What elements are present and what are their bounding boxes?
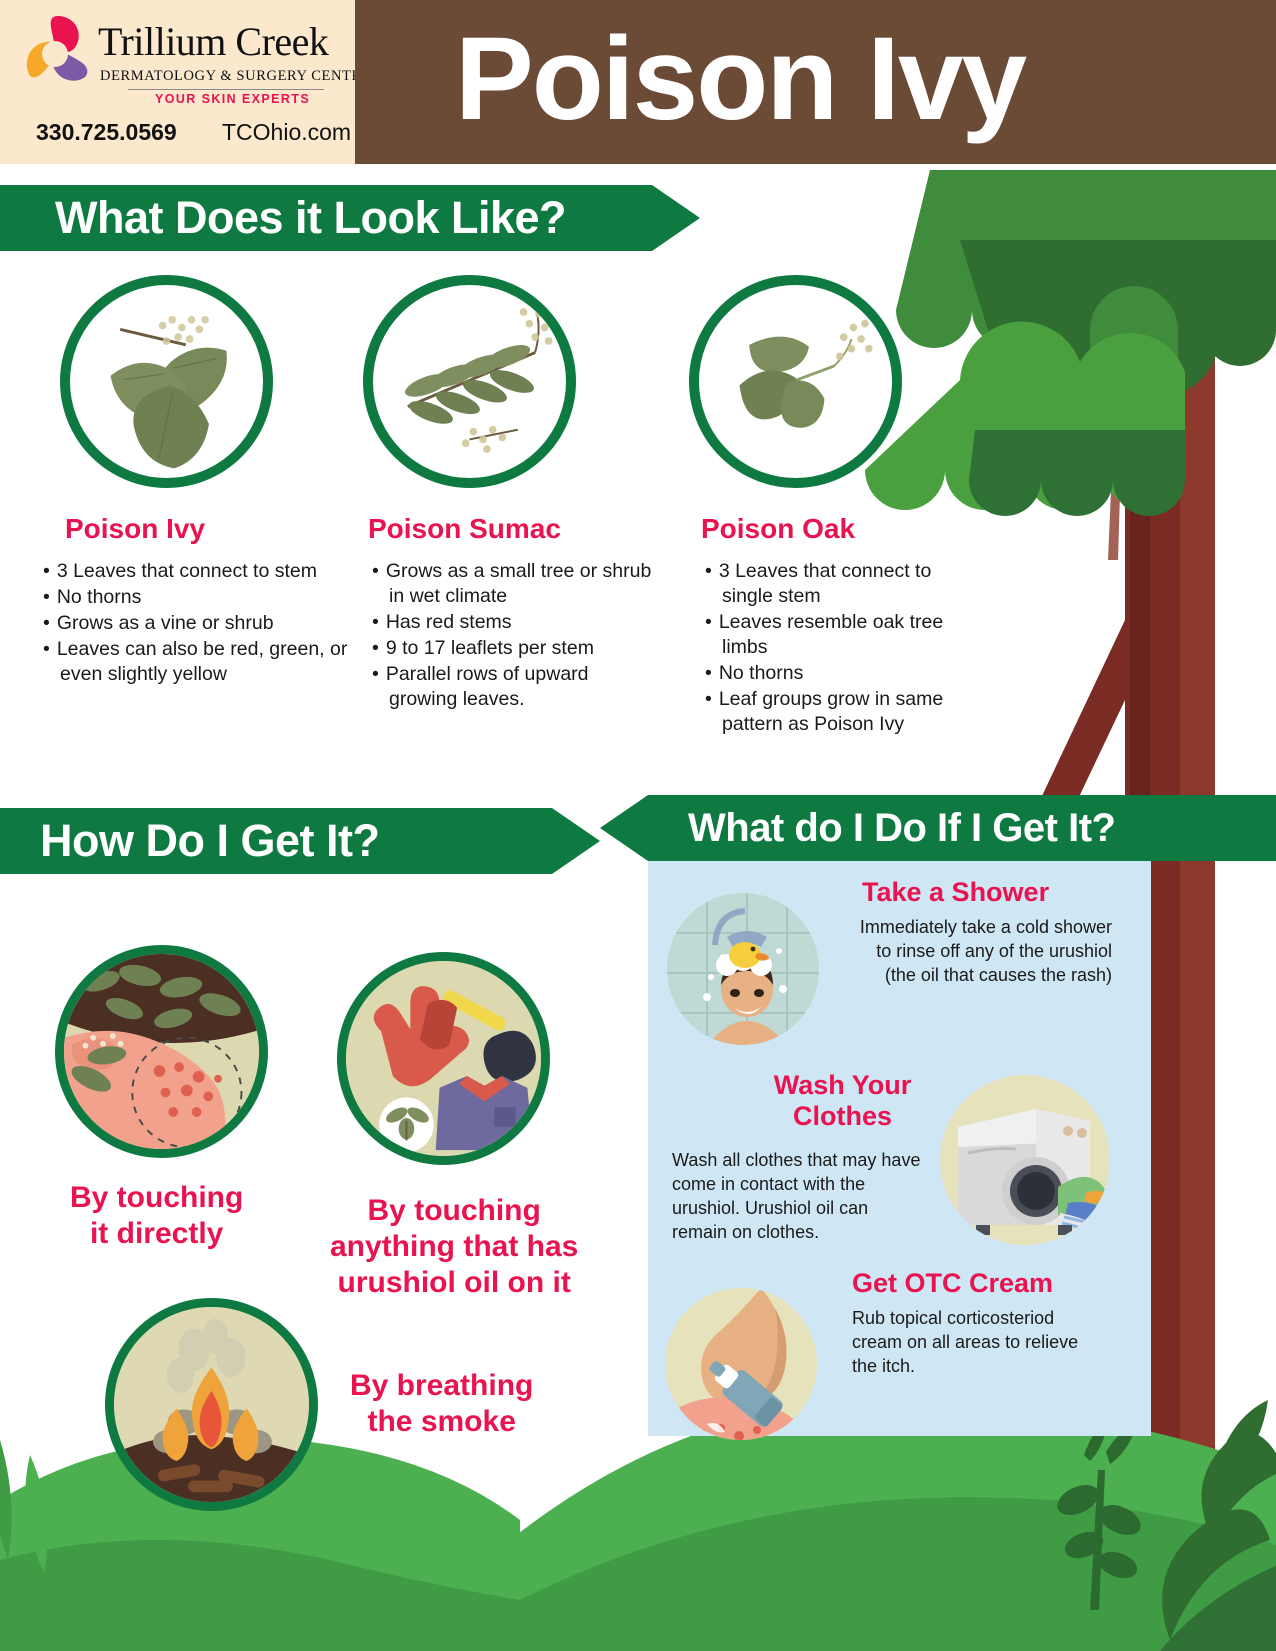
poison-ivy-leaf-icon (60, 275, 273, 488)
banner-label: What Does it Look Like? (55, 192, 566, 244)
list-item: No thorns (705, 661, 975, 686)
get-way-caption: By touchingit directly (70, 1180, 243, 1252)
campfire-smoke-icon (105, 1298, 318, 1511)
page-header: Trillium Creek DERMATOLOGY & SURGERY CEN… (0, 0, 1276, 164)
banner-label: How Do I Get It? (40, 815, 379, 867)
list-item: 9 to 17 leaflets per stem (372, 636, 660, 661)
title-panel: Poison Ivy (355, 0, 1276, 164)
leaf-stem-icon (1053, 1421, 1146, 1610)
do-step-title: Take a Shower (862, 877, 1049, 908)
get-way-caption: By breathingthe smoke (350, 1368, 533, 1440)
banner-what-does-it-look-like: What Does it Look Like? (0, 185, 700, 251)
infographic-page: Trillium Creek DERMATOLOGY & SURGERY CEN… (0, 0, 1276, 1651)
list-item: Leaf groups grow in same pattern as Pois… (705, 687, 975, 737)
bush-icon (1162, 1400, 1276, 1640)
brand-subtitle: DERMATOLOGY & SURGERY CENTER (100, 68, 371, 85)
list-item: Parallel rows of upward growing leaves. (372, 662, 660, 712)
plant-name: Poison Ivy (65, 513, 355, 545)
glove-shovel-shirt-icon (337, 952, 550, 1165)
plant-name: Poison Oak (701, 513, 975, 545)
list-item: Grows as a vine or shrub (43, 611, 355, 636)
plant-cards: Poison Ivy 3 Leaves that connect to stem… (0, 275, 1010, 745)
do-step-title: Wash YourClothes (760, 1070, 925, 1132)
page-title: Poison Ivy (455, 4, 1025, 154)
do-step-body: Wash all clothes that may have come in c… (672, 1148, 924, 1244)
washing-machine-laundry-icon (940, 1075, 1110, 1245)
phone-number[interactable]: 330.725.0569 (36, 119, 177, 146)
plant-bullet-list: Grows as a small tree or shrub in wet cl… (372, 559, 660, 712)
how-do-i-get-it-content: By touchingit directly By touc (0, 900, 640, 1500)
do-step-title: Get OTC Cream (852, 1268, 1053, 1299)
poison-sumac-leaf-icon (363, 275, 576, 488)
brand-divider (128, 89, 324, 90)
plant-card: Poison Sumac Grows as a small tree or sh… (340, 275, 660, 713)
plant-bullet-list: 3 Leaves that connect to single stem Lea… (705, 559, 975, 737)
list-item: Grows as a small tree or shrub in wet cl… (372, 559, 660, 609)
banner-what-do-i-do: What do I Do If I Get It? (600, 795, 1276, 861)
list-item: 3 Leaves that connect to stem (43, 559, 355, 584)
banner-label: What do I Do If I Get It? (688, 806, 1115, 851)
trillium-triangle-logo-icon (22, 14, 94, 88)
brand-name: Trillium Creek (98, 22, 328, 62)
list-item: Has red stems (372, 610, 660, 635)
plant-bullet-list: 3 Leaves that connect to stem No thorns … (43, 559, 355, 687)
man-shower-rubber-duck-icon (667, 893, 819, 1045)
list-item: Leaves resemble oak tree limbs (705, 610, 975, 660)
list-item: Leaves can also be red, green, or even s… (43, 637, 355, 687)
do-step-body: Immediately take a cold shower to rinse … (857, 915, 1112, 987)
website-link[interactable]: TCOhio.com (222, 119, 351, 146)
get-way-caption: By touchinganything that hasurushiol oil… (330, 1193, 578, 1301)
logo-panel: Trillium Creek DERMATOLOGY & SURGERY CEN… (0, 0, 355, 164)
do-step-body: Rub topical corticosteriod cream on all … (852, 1306, 1102, 1378)
plant-card: Poison Ivy 3 Leaves that connect to stem… (35, 275, 355, 688)
brand-tagline: YOUR SKIN EXPERTS (155, 92, 310, 106)
poison-oak-leaf-icon (689, 275, 902, 488)
banner-how-do-i-get-it: How Do I Get It? (0, 808, 600, 874)
hand-rash-plant-icon (55, 945, 268, 1158)
list-item: No thorns (43, 585, 355, 610)
list-item: 3 Leaves that connect to single stem (705, 559, 975, 609)
plant-card: Poison Oak 3 Leaves that connect to sing… (655, 275, 975, 738)
plant-name: Poison Sumac (368, 513, 660, 545)
hand-cream-tube-icon (665, 1288, 817, 1440)
